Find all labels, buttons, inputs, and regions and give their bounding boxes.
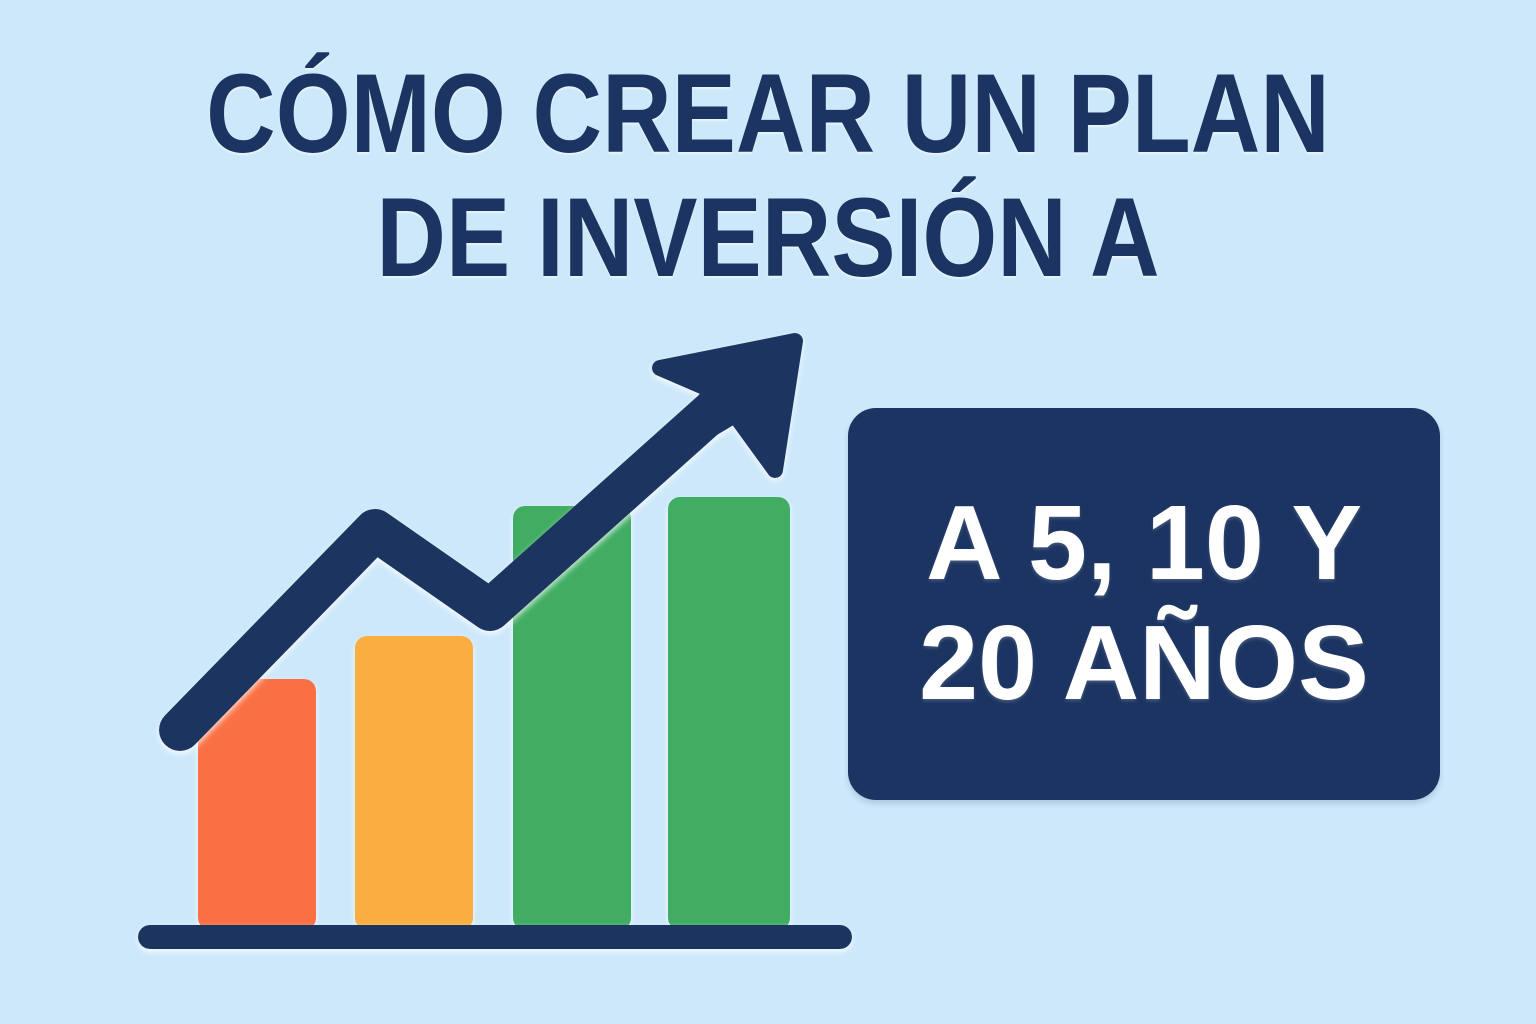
thumbnail-canvas: CÓMO CREAR UN PLAN DE INVERSIÓN A xyxy=(0,0,1536,1024)
badge-line-1: A 5, 10 Y xyxy=(926,484,1362,604)
chart-baseline-icon xyxy=(138,925,852,949)
bar-2 xyxy=(355,636,473,930)
status-badge: A 5, 10 Y 20 AÑOS xyxy=(848,408,1440,800)
badge-line-2: 20 AÑOS xyxy=(919,604,1369,724)
chart-bars xyxy=(198,497,790,930)
bar-4 xyxy=(668,497,790,930)
bar-chart-illustration xyxy=(0,0,900,1024)
